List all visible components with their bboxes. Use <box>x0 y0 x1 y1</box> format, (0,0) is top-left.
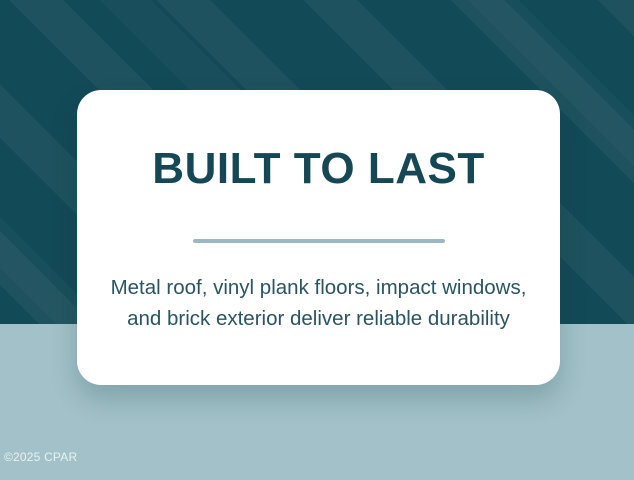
title-divider <box>193 239 445 243</box>
slide-canvas: BUILT TO LAST Metal roof, vinyl plank fl… <box>0 0 634 480</box>
card-body-text: Metal roof, vinyl plank floors, impact w… <box>109 273 529 334</box>
content-card: BUILT TO LAST Metal roof, vinyl plank fl… <box>77 90 560 385</box>
card-title: BUILT TO LAST <box>152 141 484 191</box>
copyright-notice: ©2025 CPAR <box>4 450 77 464</box>
